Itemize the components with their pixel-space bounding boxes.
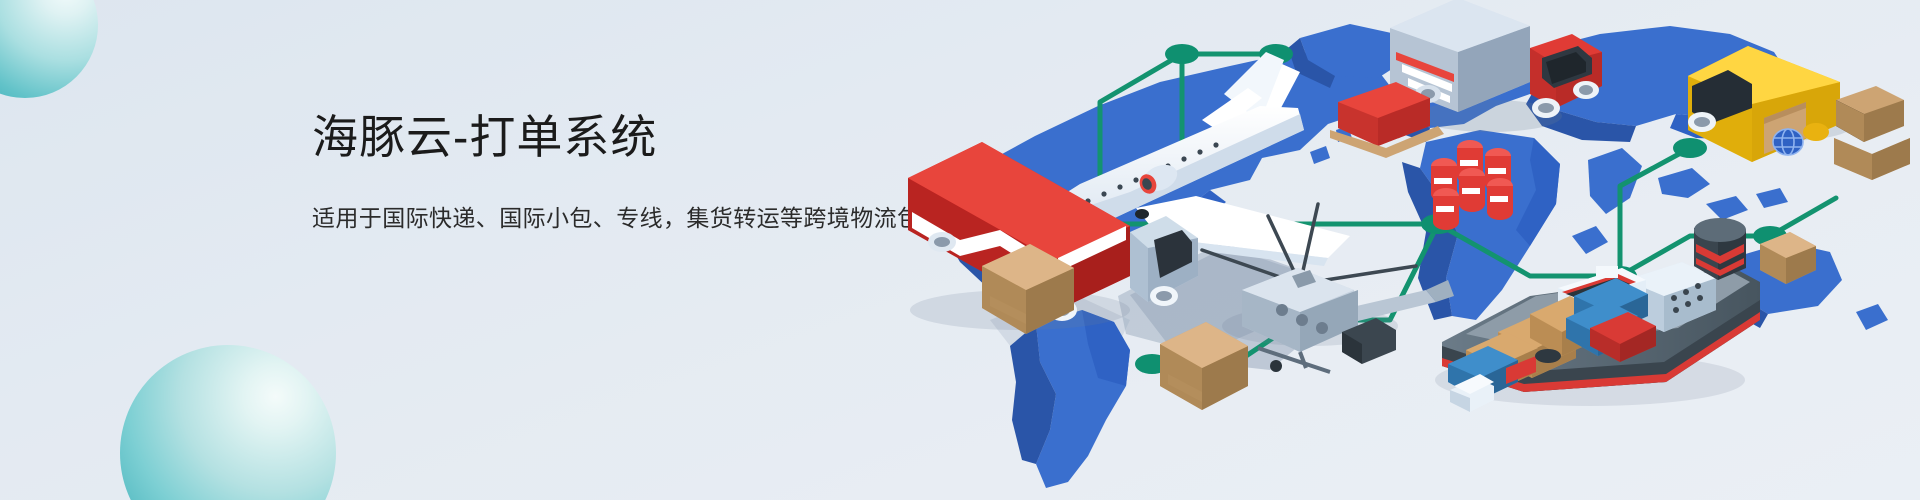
cardboard-boxes: [1834, 86, 1910, 180]
madagascar: [1572, 226, 1608, 254]
indonesia-a: [1706, 196, 1748, 220]
hero-banner: 海豚云-打单系统 适用于国际快递、国际小包、专线，集货转运等跨境物流包裹处理: [0, 0, 1920, 500]
network-node: [1673, 138, 1707, 158]
island-iceland: [1310, 146, 1330, 164]
teal-sphere-top-left-icon: [0, 0, 98, 98]
network-node: [1165, 44, 1199, 64]
new-zealand: [1856, 304, 1888, 330]
teal-sphere-bottom-left-icon: [120, 345, 336, 500]
southeast-asia: [1658, 168, 1710, 198]
isometric-world-logistics-map: [830, 0, 1920, 500]
yellow-delivery-van: [1688, 46, 1910, 180]
indonesia-b: [1756, 188, 1788, 208]
